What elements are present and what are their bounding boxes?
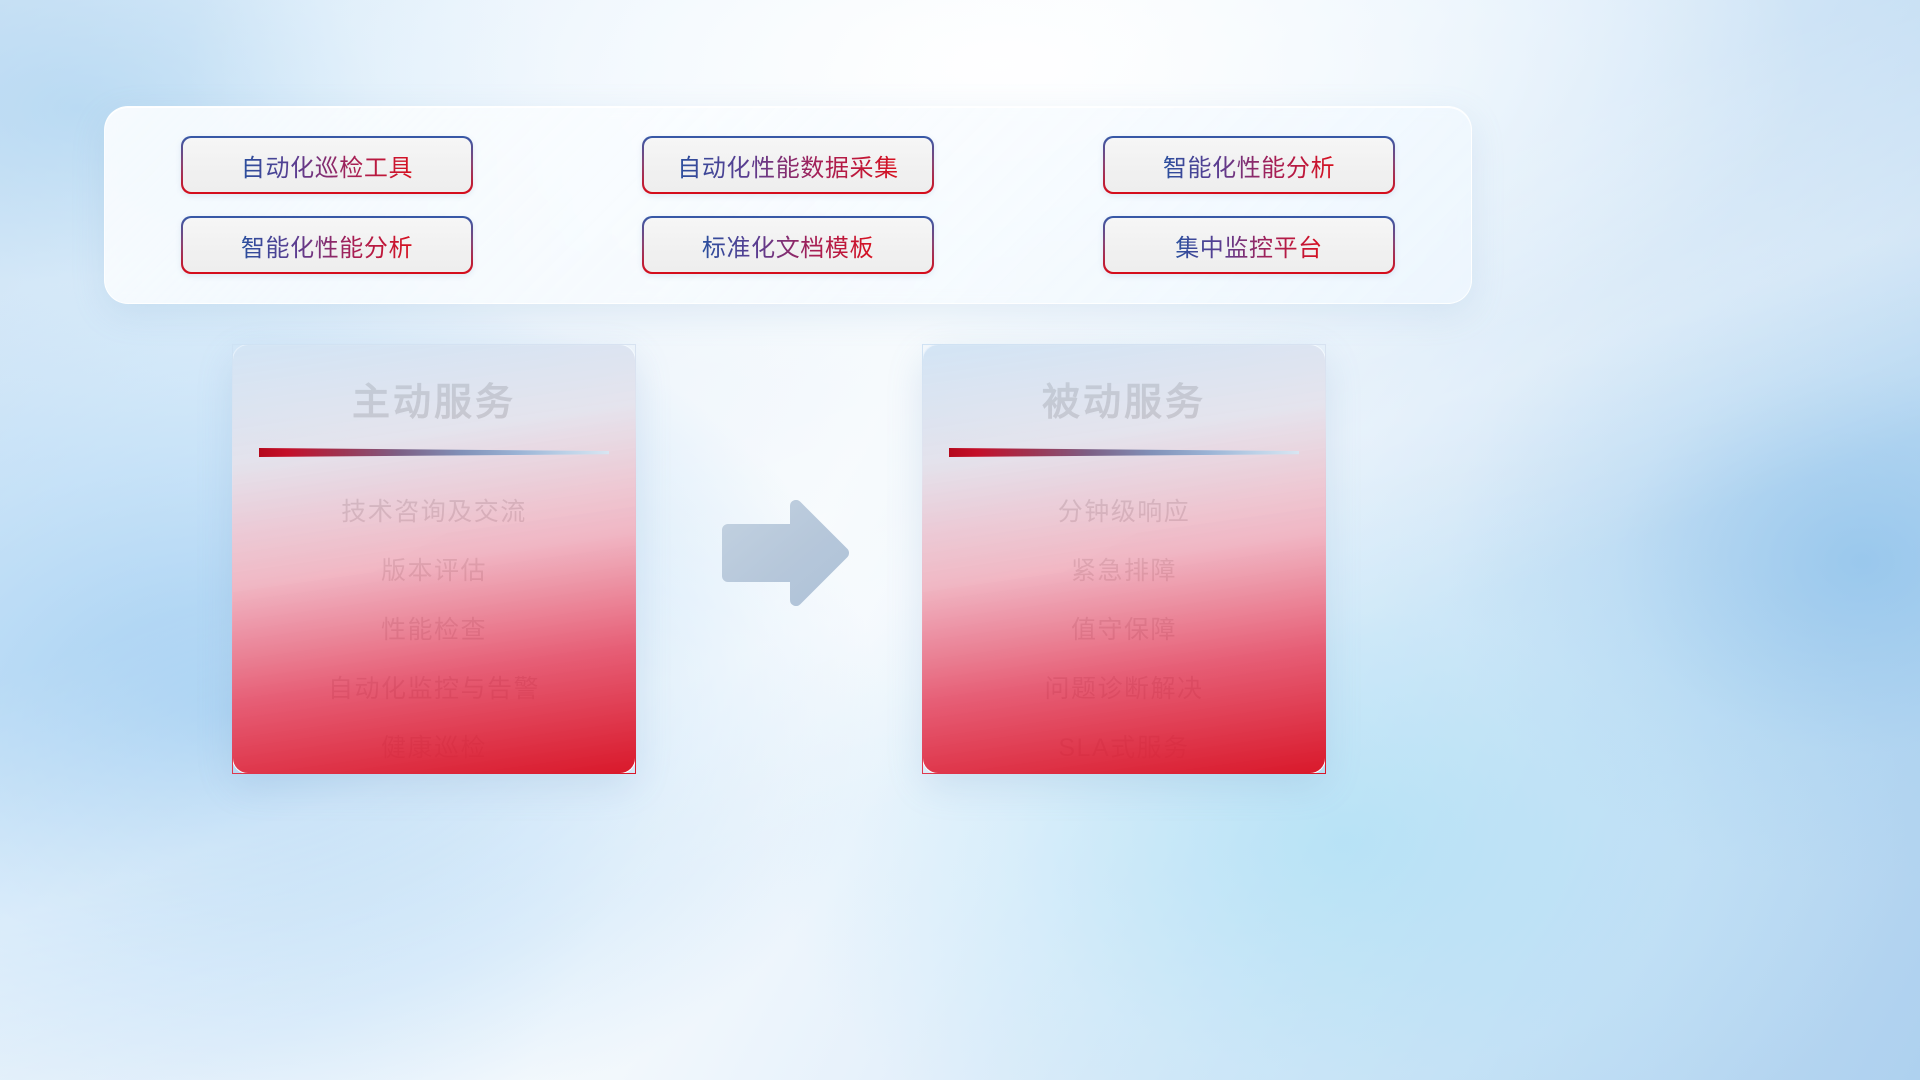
capability-tag-3-label: 智能化性能分析 — [1163, 148, 1335, 183]
capability-tags-panel: 自动化巡检工具 自动化性能数据采集 智能化性能分析 智能化性能分析 — [104, 106, 1472, 304]
capability-tag-3-inner: 智能化性能分析 — [1105, 138, 1394, 193]
service-card-reactive-title: 被动服务 — [923, 371, 1325, 426]
capability-tag-1[interactable]: 自动化巡检工具 — [181, 136, 473, 194]
capability-tag-5-label: 标准化文档模板 — [702, 228, 874, 263]
list-item: 分钟级响应 — [923, 483, 1325, 542]
capability-tag-1-label: 自动化巡检工具 — [241, 148, 413, 183]
capability-tag-2[interactable]: 自动化性能数据采集 — [642, 136, 934, 194]
arrow-right-icon — [716, 500, 852, 606]
capability-tag-4[interactable]: 智能化性能分析 — [181, 216, 473, 274]
list-item: 健康巡检 — [233, 719, 635, 774]
service-card-reactive-divider — [949, 448, 1299, 457]
list-item: SLA式服务 — [923, 719, 1325, 774]
capability-tags-grid: 自动化巡检工具 自动化性能数据采集 智能化性能分析 智能化性能分析 — [181, 136, 1395, 274]
service-card-proactive-title: 主动服务 — [233, 371, 635, 426]
list-item: 值守保障 — [923, 601, 1325, 660]
list-item: 性能检查 — [233, 601, 635, 660]
service-card-proactive-divider — [259, 448, 609, 457]
capability-tag-3[interactable]: 智能化性能分析 — [1103, 136, 1395, 194]
capability-tag-2-label: 自动化性能数据采集 — [677, 148, 898, 183]
capability-tag-5[interactable]: 标准化文档模板 — [642, 216, 934, 274]
capability-tag-2-inner: 自动化性能数据采集 — [644, 138, 933, 193]
service-card-proactive-list: 技术咨询及交流 版本评估 性能检查 自动化监控与告警 健康巡检 — [233, 483, 635, 774]
list-item: 技术咨询及交流 — [233, 483, 635, 542]
list-item: 问题诊断解决 — [923, 660, 1325, 719]
divider-bar — [949, 448, 1299, 457]
list-item: 版本评估 — [233, 542, 635, 601]
capability-tag-6-inner: 集中监控平台 — [1105, 218, 1394, 273]
list-item: 自动化监控与告警 — [233, 660, 635, 719]
capability-tag-6[interactable]: 集中监控平台 — [1103, 216, 1395, 274]
capability-tag-4-label: 智能化性能分析 — [241, 228, 413, 263]
capability-tag-4-inner: 智能化性能分析 — [183, 218, 472, 273]
service-card-reactive[interactable]: 被动服务 分钟级响应 紧急排障 值守保障 问题诊断解决 SLA式服务 — [922, 344, 1326, 774]
service-card-reactive-list: 分钟级响应 紧急排障 值守保障 问题诊断解决 SLA式服务 — [923, 483, 1325, 774]
infographic-canvas: 自动化巡检工具 自动化性能数据采集 智能化性能分析 智能化性能分析 — [0, 0, 1920, 1080]
list-item: 紧急排障 — [923, 542, 1325, 601]
divider-bar — [259, 448, 609, 457]
capability-tag-5-inner: 标准化文档模板 — [644, 218, 933, 273]
service-card-proactive[interactable]: 主动服务 技术咨询及交流 版本评估 性能检查 自动化监控与告警 健康巡检 — [232, 344, 636, 774]
capability-tag-1-inner: 自动化巡检工具 — [183, 138, 472, 193]
capability-tag-6-label: 集中监控平台 — [1175, 228, 1323, 263]
